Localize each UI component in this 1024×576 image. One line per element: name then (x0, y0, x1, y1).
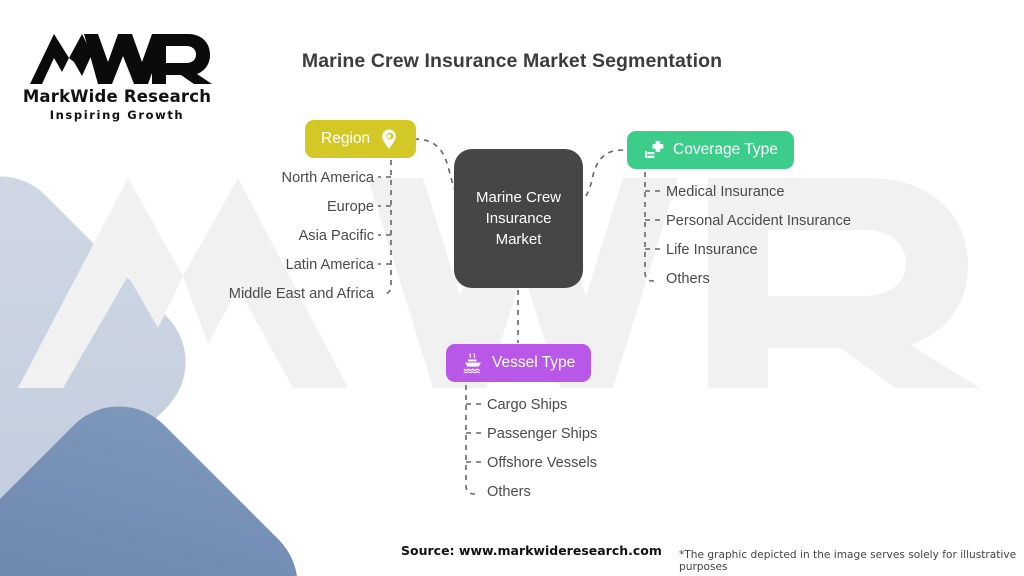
branch-badge-region-label: Region (321, 130, 370, 148)
medical-cross-icon (643, 139, 665, 161)
leaf-item-coverage-2[interactable]: Life Insurance (666, 243, 758, 258)
leaf-item-coverage-1[interactable]: Personal Accident Insurance (666, 214, 851, 229)
logo: MarkWide Research Inspiring Growth (22, 32, 212, 122)
location-pin-gear-icon (378, 128, 400, 150)
ship-icon (462, 352, 484, 374)
center-node[interactable]: Marine Crew Insurance Market (454, 149, 583, 288)
page-title: Marine Crew Insurance Market Segmentatio… (0, 50, 1024, 73)
leaf-item-coverage-3[interactable]: Others (666, 272, 710, 287)
branch-badge-coverage-label: Coverage Type (673, 141, 778, 159)
branch-badge-region[interactable]: Region (305, 120, 416, 158)
leaf-item-coverage-0[interactable]: Medical Insurance (666, 185, 784, 200)
leaf-item-region-3[interactable]: Latin America (286, 258, 374, 273)
leaf-item-region-2[interactable]: Asia Pacific (299, 229, 374, 244)
wire-vessel-spine (466, 385, 475, 494)
leaf-item-region-0[interactable]: North America (282, 171, 374, 186)
branch-badge-coverage[interactable]: Coverage Type (627, 131, 794, 169)
leaf-item-vessel-0[interactable]: Cargo Ships (487, 398, 567, 413)
logo-company-name: MarkWide Research (22, 87, 212, 106)
source-label[interactable]: Source: www.markwideresearch.com (401, 543, 662, 558)
leaf-item-region-1[interactable]: Europe (327, 200, 374, 215)
wire-coverage-to-center (580, 150, 623, 201)
logo-tagline: Inspiring Growth (22, 108, 212, 122)
leaf-item-vessel-1[interactable]: Passenger Ships (487, 427, 597, 442)
leaf-item-vessel-3[interactable]: Others (487, 485, 531, 500)
disclaimer-note: *The graphic depicted in the image serve… (679, 549, 1024, 573)
branch-badge-vessel-label: Vessel Type (492, 354, 575, 372)
leaf-item-vessel-2[interactable]: Offshore Vessels (487, 456, 597, 471)
leaf-item-region-4[interactable]: Middle East and Africa (229, 287, 374, 302)
wire-coverage-spine (645, 172, 654, 281)
infographic-canvas: MarkWide Research Inspiring Growth Marin… (0, 0, 1024, 576)
center-node-label: Marine Crew Insurance Market (464, 187, 573, 251)
branch-badge-vessel[interactable]: Vessel Type (446, 344, 591, 382)
